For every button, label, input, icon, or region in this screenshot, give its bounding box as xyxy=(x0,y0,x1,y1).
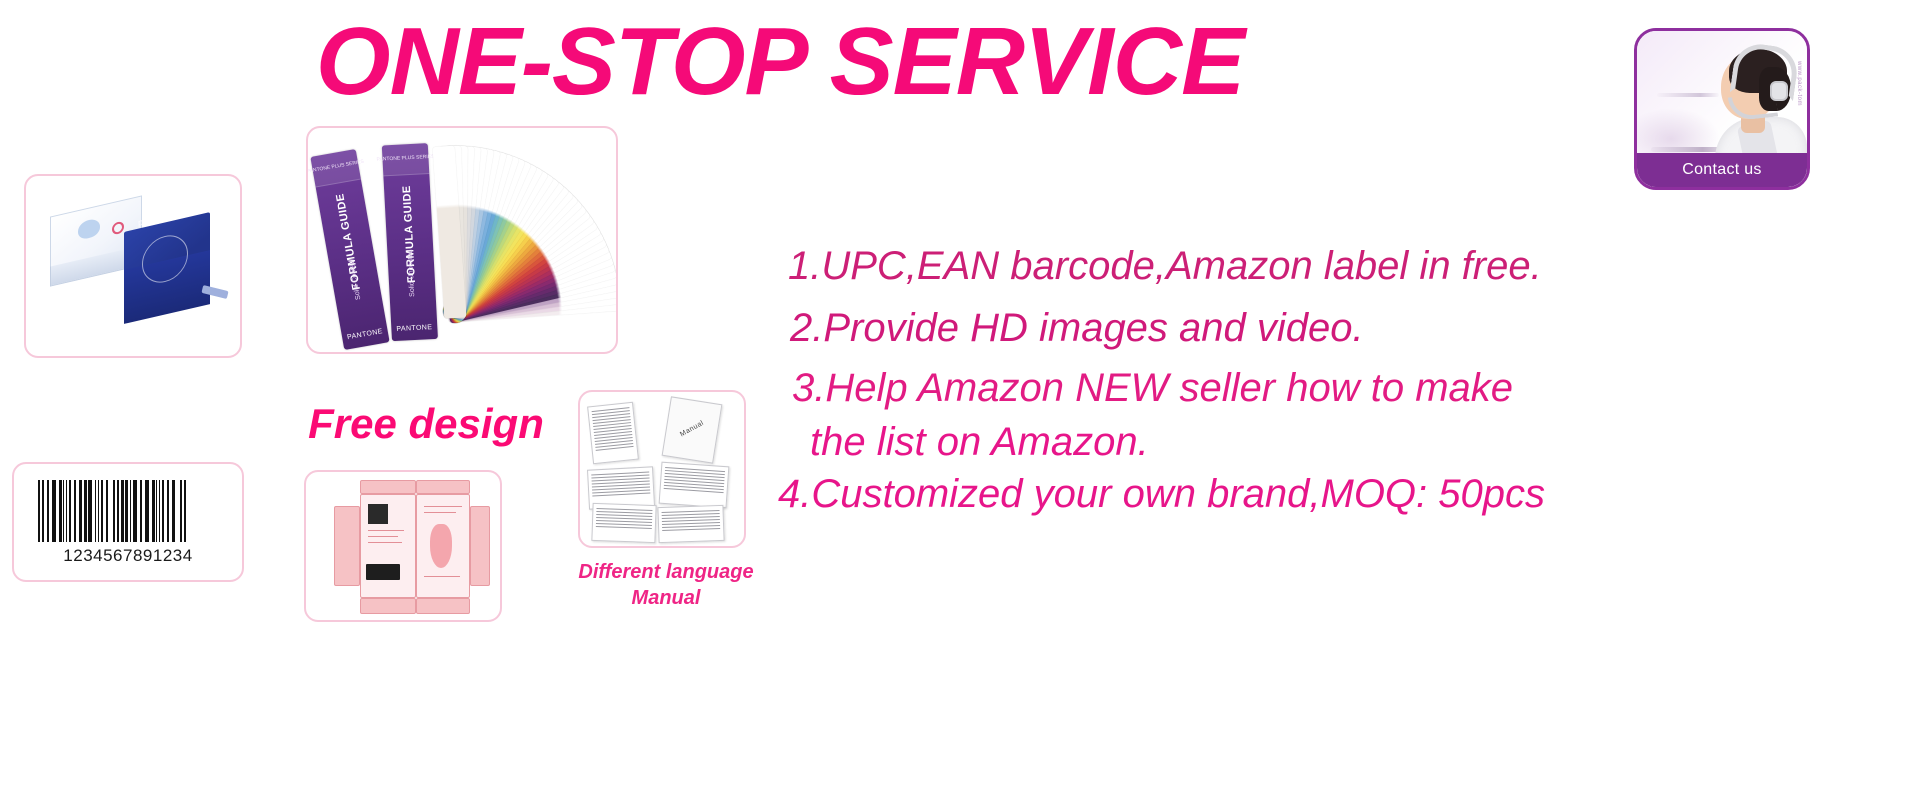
dieline-top-flap-right xyxy=(416,480,470,494)
dieline-text-line xyxy=(424,512,456,513)
contact-us-card[interactable]: www.pack-tom Contact us xyxy=(1634,28,1810,190)
barcode-bar xyxy=(184,480,186,542)
feature-item-2: 2.Provide HD images and video. xyxy=(790,308,1364,348)
manual-sheet-text xyxy=(663,467,725,504)
guide-coated-brand: PANTONE xyxy=(347,328,384,341)
manual-sheet xyxy=(591,503,656,543)
headset-microphone-icon xyxy=(1728,93,1778,122)
guide-coated-header: PANTONE PLUS SERIES xyxy=(310,149,361,188)
manual-sheet-title: Manual xyxy=(679,419,705,438)
feature-item-3-continued: the list on Amazon. xyxy=(810,422,1149,462)
guide-coated-title: FORMULA GUIDE xyxy=(334,193,363,291)
barcode-label-card: 1234567891234 xyxy=(12,462,244,582)
dieline-text-line xyxy=(368,530,404,531)
carton-dieline-card xyxy=(304,470,502,622)
guide-uncoated-header: PANTONE PLUS SERIES xyxy=(382,143,430,176)
dieline-qr-code-icon xyxy=(368,504,388,524)
pantone-fan-card: PANTONE PLUS SERIES FORMULA GUIDE Solid … xyxy=(306,126,618,354)
guide-uncoated-brand: PANTONE xyxy=(396,324,432,333)
photo-shelf-upper xyxy=(1657,93,1719,97)
barcode-bars xyxy=(38,480,222,542)
dieline-text-line xyxy=(424,576,460,577)
dieline-text-line xyxy=(424,506,462,507)
manual-sheets-card: Manual xyxy=(578,390,746,548)
dieline-text-line xyxy=(368,542,402,543)
manual-caption-line-2: Manual xyxy=(566,586,766,612)
manual-sheet xyxy=(587,402,639,464)
feature-item-1: 1.UPC,EAN barcode,Amazon label in free. xyxy=(788,246,1542,286)
page-title: ONE-STOP SERVICE xyxy=(0,12,1560,113)
manual-sheet xyxy=(659,462,730,509)
feature-item-3: 3.Help Amazon NEW seller how to make xyxy=(792,368,1513,408)
manual-sheet-text xyxy=(662,510,721,539)
gift-box-image-card: packaging xyxy=(24,174,242,358)
dieline-top-flap-left xyxy=(360,480,416,494)
photo-watermark: www.pack-tom xyxy=(1796,61,1802,106)
dieline-bottom-flap-right xyxy=(416,598,470,614)
dieline-side-flap-right xyxy=(470,506,490,586)
free-design-label: Free design xyxy=(306,400,546,448)
manual-sheet-text xyxy=(591,472,651,506)
guide-coated-header-text: PANTONE PLUS SERIES xyxy=(306,159,364,175)
contact-us-button[interactable]: Contact us xyxy=(1637,153,1807,187)
manual-sheet-text xyxy=(592,407,635,460)
headset-band-icon xyxy=(1730,41,1801,101)
barcode-number: 1234567891234 xyxy=(14,546,242,566)
dieline-text-line xyxy=(368,536,398,537)
guide-uncoated-header-text: PANTONE PLUS SERIES xyxy=(376,154,434,163)
dieline-bottom-flap-left xyxy=(360,598,416,614)
dieline-product-artwork xyxy=(430,524,452,568)
manual-sheet xyxy=(657,505,724,543)
manual-sheet-text xyxy=(595,508,652,539)
manual-caption-line-1: Different language xyxy=(566,560,766,586)
manual-sheet-cover: Manual xyxy=(662,396,723,463)
feature-item-4: 4.Customized your own brand,MOQ: 50pcs xyxy=(778,474,1545,514)
manual-caption: Different language Manual xyxy=(566,560,766,611)
dieline-black-label xyxy=(366,564,400,580)
dieline-side-flap-left xyxy=(334,506,360,586)
